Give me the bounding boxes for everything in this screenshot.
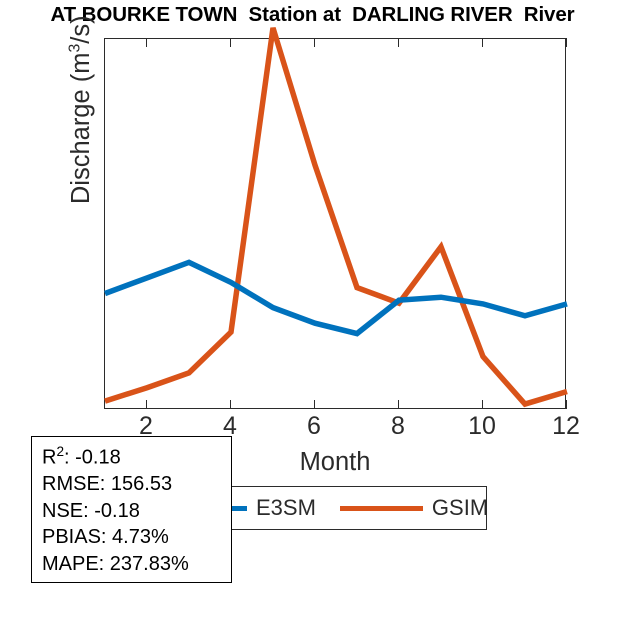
x-tick-label-10: 10	[452, 414, 512, 439]
x-tick-mark-6	[314, 400, 315, 409]
x-tick-mark-8	[398, 400, 399, 409]
metric-line-rmse: RMSE: 156.53	[42, 471, 231, 498]
x-tick-mark-top-2	[146, 38, 147, 47]
x-tick-mark-4	[230, 400, 231, 409]
legend-swatch-gsim	[340, 506, 423, 511]
chart-legend[interactable]: E3SM GSIM	[222, 486, 487, 530]
y-axis-label-exponent: 3	[66, 44, 83, 53]
x-tick-label-12: 12	[536, 414, 596, 439]
metric-label-r2: R	[42, 447, 56, 469]
x-tick-mark-top-12	[566, 38, 567, 47]
chart-figure: AT BOURKE TOWN Station at DARLING RIVER …	[0, 0, 625, 625]
y-axis-label: Discharge (m3/s)	[66, 0, 96, 295]
x-tick-label-6: 6	[284, 414, 344, 439]
series-line-gsim	[105, 28, 567, 404]
x-tick-label-8: 8	[368, 414, 428, 439]
plot-area	[104, 38, 566, 409]
metric-line-nse: NSE: -0.18	[42, 498, 231, 525]
x-tick-mark-top-8	[398, 38, 399, 47]
legend-label-gsim: GSIM	[432, 497, 488, 519]
x-tick-mark-2	[146, 400, 147, 409]
y-axis-label-prefix: Discharge (m	[67, 53, 95, 205]
metric-line-pbias: PBIAS: 4.73%	[42, 524, 231, 551]
plot-lines	[105, 39, 567, 410]
x-tick-mark-top-4	[230, 38, 231, 47]
metric-value-r2: : -0.18	[64, 447, 121, 469]
metric-superscript-2: 2	[56, 444, 64, 459]
metric-line-mape: MAPE: 237.83%	[42, 551, 231, 578]
x-tick-mark-12	[566, 400, 567, 409]
x-tick-mark-top-10	[482, 38, 483, 47]
legend-entry-gsim[interactable]: GSIM	[340, 497, 488, 519]
metric-line-r2: R2: -0.18	[42, 443, 231, 471]
metrics-annotation-box: R2: -0.18 RMSE: 156.53 NSE: -0.18 PBIAS:…	[31, 436, 232, 583]
y-axis-label-suffix: /s)	[67, 15, 95, 43]
x-tick-mark-10	[482, 400, 483, 409]
series-line-e3sm	[105, 262, 567, 333]
x-tick-mark-top-6	[314, 38, 315, 47]
legend-label-e3sm: E3SM	[256, 497, 316, 519]
